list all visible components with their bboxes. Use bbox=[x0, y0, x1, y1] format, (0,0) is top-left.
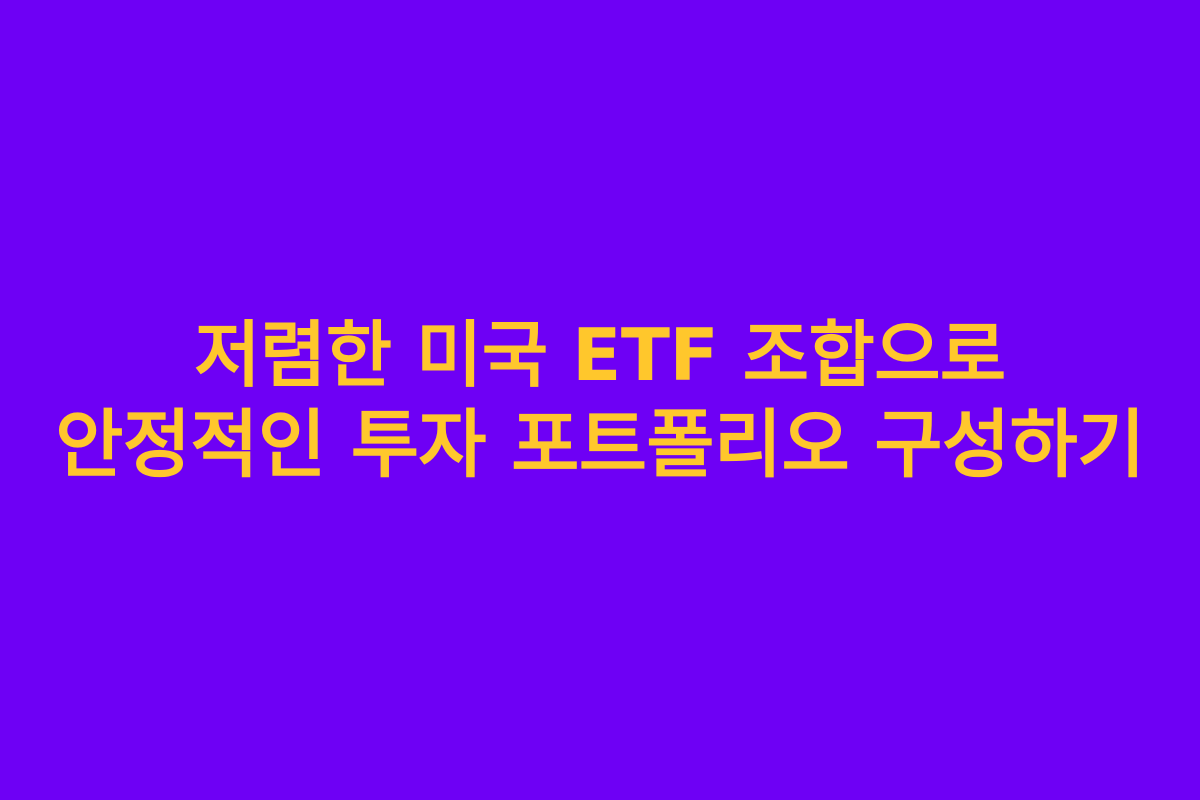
headline-title: 저렴한 미국 ETF 조합으로 안정적인 투자 포트폴리오 구성하기 bbox=[20, 310, 1180, 490]
banner-canvas: 저렴한 미국 ETF 조합으로 안정적인 투자 포트폴리오 구성하기 bbox=[0, 0, 1200, 800]
headline-line-2: 안정적인 투자 포트폴리오 구성하기 bbox=[20, 400, 1180, 490]
headline-line-1: 저렴한 미국 ETF 조합으로 bbox=[20, 310, 1180, 400]
